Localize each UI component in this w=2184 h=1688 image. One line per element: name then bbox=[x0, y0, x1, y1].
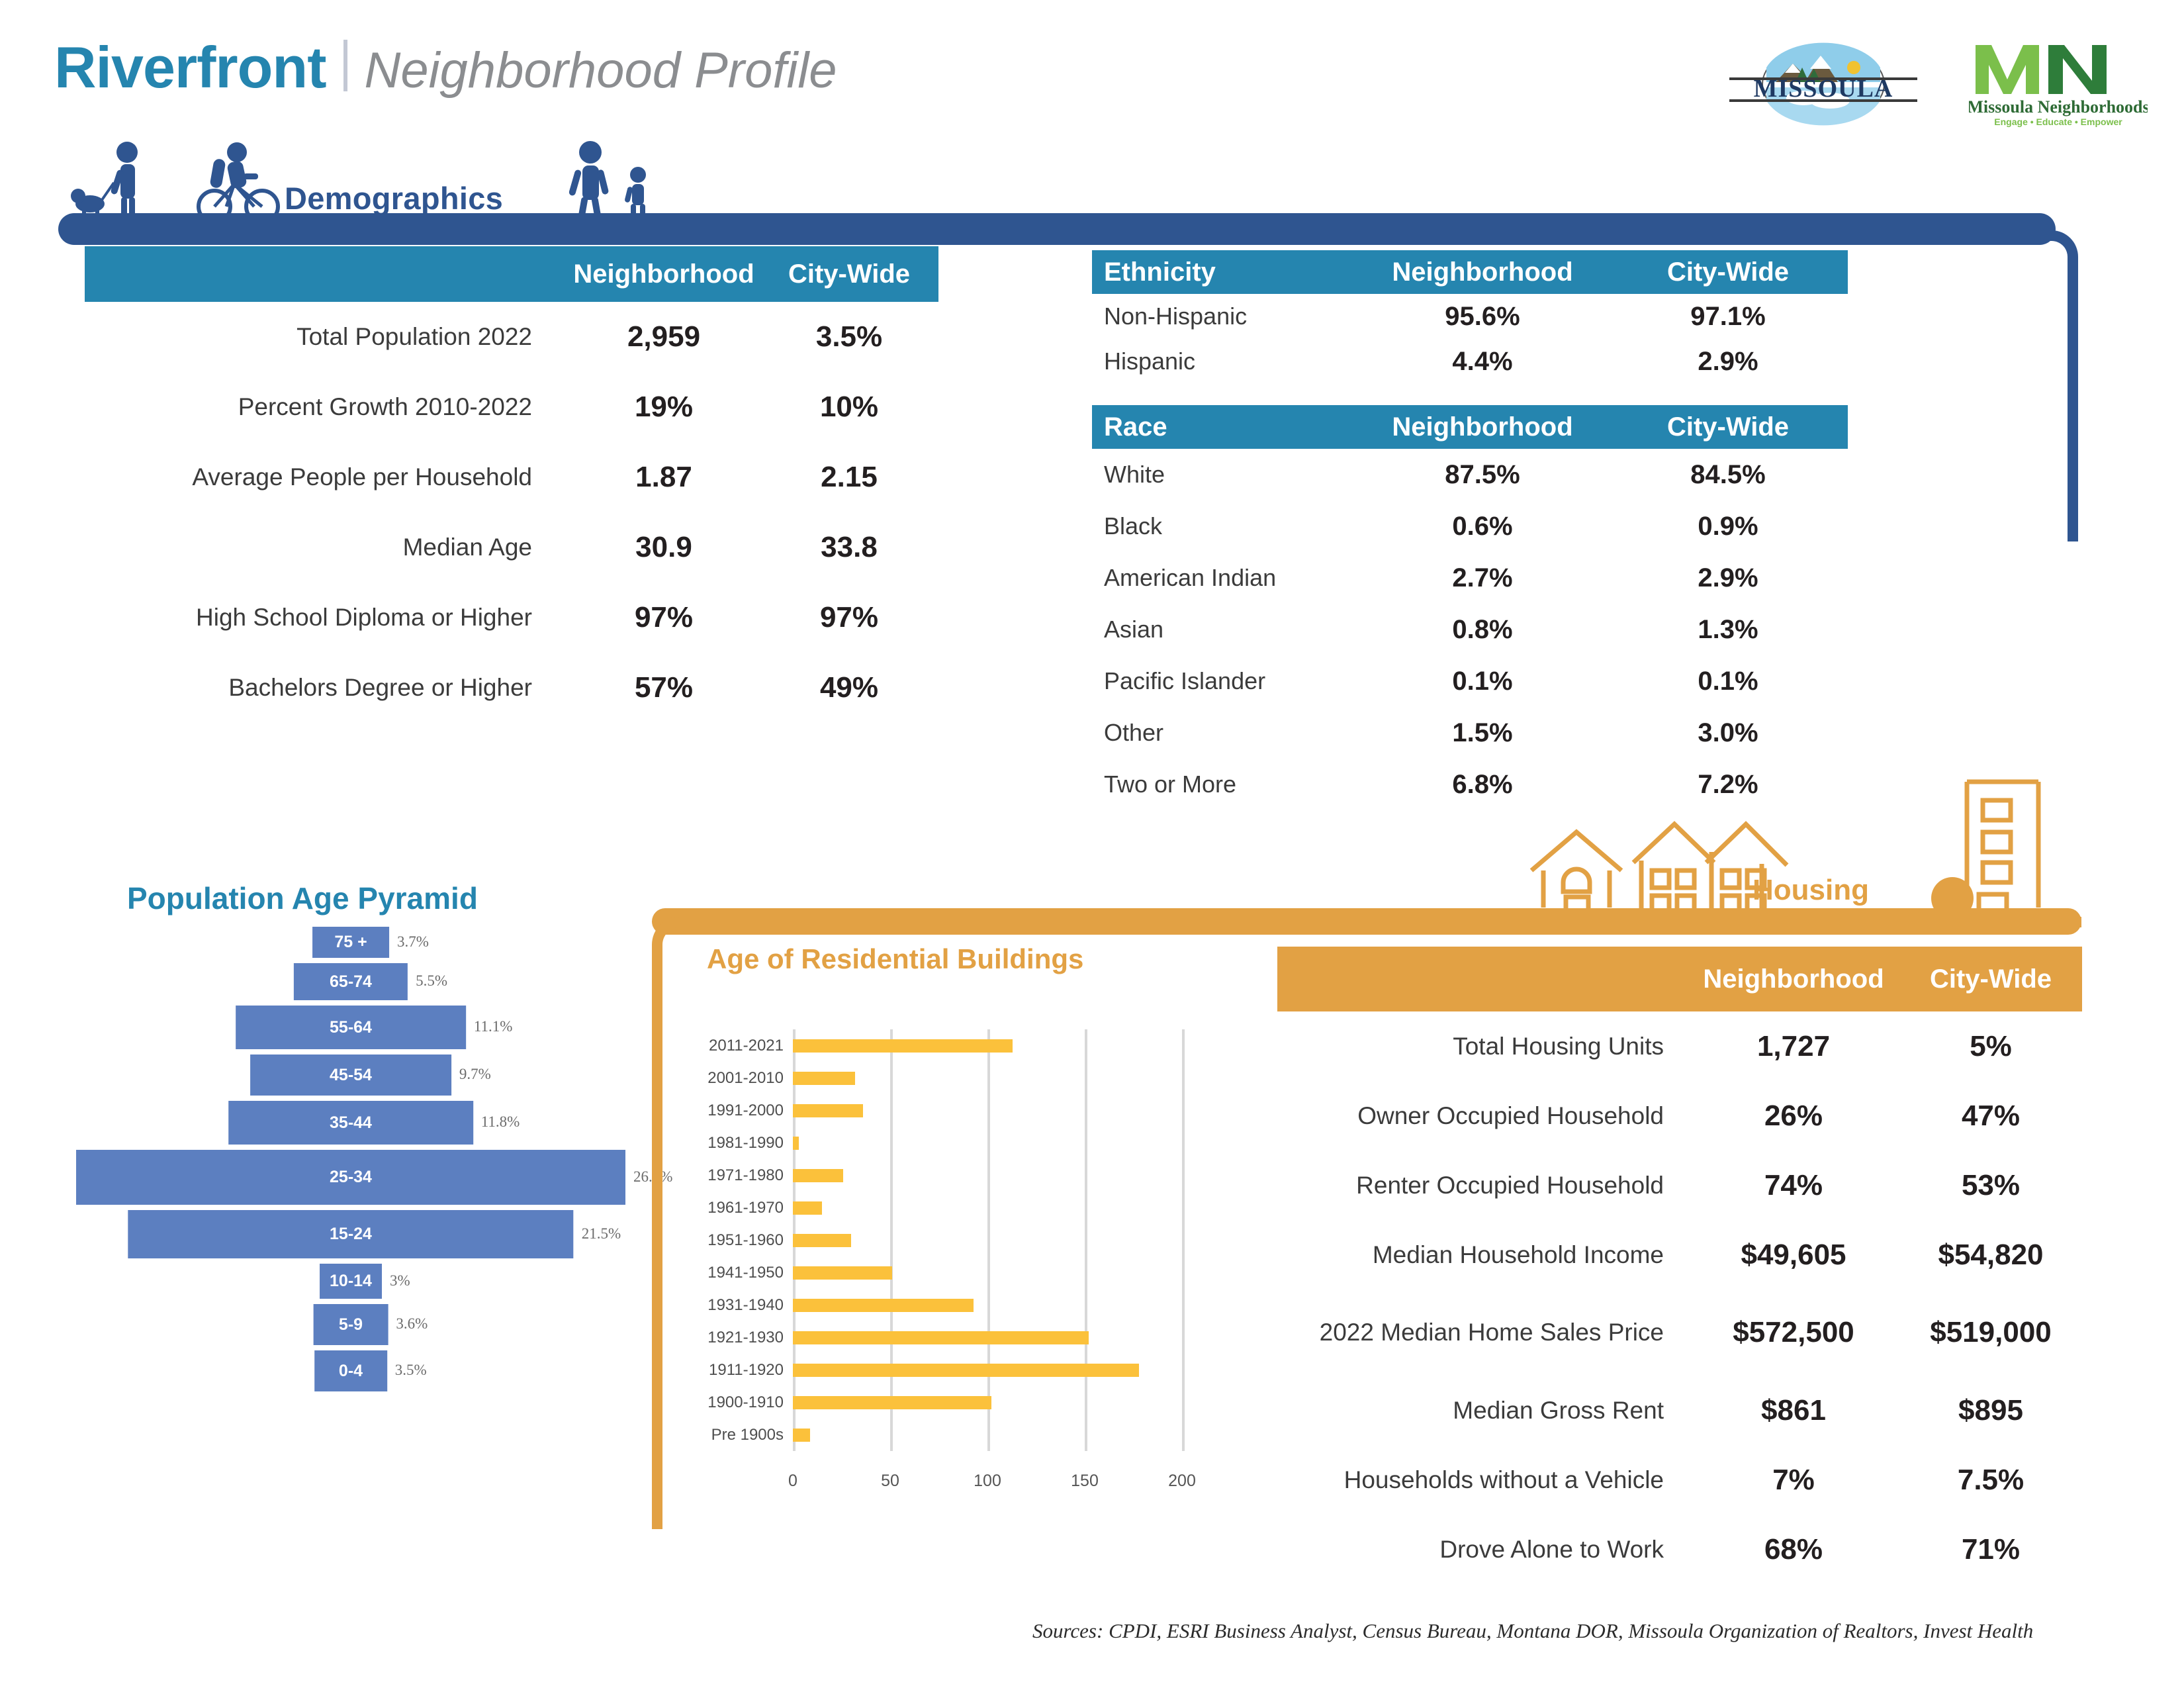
res-bar bbox=[793, 1331, 1089, 1344]
row-citywide-value: 97.1% bbox=[1608, 302, 1848, 332]
row-neighborhood-value: 2,959 bbox=[568, 320, 760, 353]
res-category-label: 1951-1960 bbox=[695, 1224, 793, 1256]
row-neighborhood-value: 97% bbox=[568, 601, 760, 634]
row-neighborhood-value: 57% bbox=[568, 671, 760, 704]
row-neighborhood-value: 19% bbox=[568, 391, 760, 424]
res-category-label: 1911-1920 bbox=[695, 1354, 793, 1386]
row-citywide-value: 0.1% bbox=[1608, 667, 1848, 696]
pyramid-value-label: 3% bbox=[390, 1272, 410, 1289]
row-citywide-value: 10% bbox=[760, 391, 938, 424]
row-label: American Indian bbox=[1092, 564, 1357, 592]
col-header-citywide: City-Wide bbox=[1608, 412, 1848, 442]
neighborhood-name: Riverfront bbox=[54, 38, 326, 97]
table-row: Owner Occupied Household 26% 47% bbox=[1277, 1081, 2082, 1150]
res-bar-row bbox=[793, 1419, 1182, 1451]
row-label: Percent Growth 2010-2022 bbox=[85, 393, 568, 421]
pyramid-value-label: 11.8% bbox=[481, 1113, 520, 1131]
res-category-labels: 2011-20212001-20101991-20001981-19901971… bbox=[695, 1029, 793, 1451]
res-bar bbox=[793, 1137, 799, 1150]
table-row: Households without a Vehicle 7% 7.5% bbox=[1277, 1445, 2082, 1515]
col-header-race: Race bbox=[1092, 412, 1357, 442]
res-bar-row bbox=[793, 1127, 1182, 1159]
missoula-city-logo: MISSOULA bbox=[1724, 41, 1923, 127]
res-bar bbox=[793, 1104, 863, 1117]
res-category-label: 1900-1910 bbox=[695, 1386, 793, 1419]
table-row: Average People per Household 1.87 2.15 bbox=[85, 442, 938, 512]
row-label: Median Gross Rent bbox=[1277, 1397, 1688, 1424]
row-neighborhood-value: 2.7% bbox=[1357, 563, 1608, 593]
sources-footer: Sources: CPDI, ESRI Business Analyst, Ce… bbox=[1032, 1619, 2033, 1643]
res-x-tick-label: 150 bbox=[1071, 1472, 1099, 1491]
row-neighborhood-value: 1.5% bbox=[1357, 718, 1608, 748]
res-bar-row bbox=[793, 1354, 1182, 1386]
pyramid-bar: 35-44 bbox=[228, 1101, 473, 1145]
table-row: Other 1.5% 3.0% bbox=[1092, 707, 1848, 759]
res-bar bbox=[793, 1266, 892, 1280]
pyramid-row: 55-6411.1% bbox=[53, 1006, 649, 1055]
row-label: Renter Occupied Household bbox=[1277, 1172, 1688, 1199]
row-label: Median Household Income bbox=[1277, 1241, 1688, 1268]
res-category-label: 1941-1950 bbox=[695, 1256, 793, 1289]
row-citywide-value: 2.15 bbox=[760, 461, 938, 494]
pyramid-row: 10-143% bbox=[53, 1264, 649, 1304]
neighborhood-profile-page: Riverfront Neighborhood Profile MISSOULA… bbox=[0, 0, 2184, 1688]
table-row: Median Household Income $49,605 $54,820 bbox=[1277, 1220, 2082, 1289]
row-label: Two or More bbox=[1092, 771, 1357, 798]
pyramid-row: 75 +3.7% bbox=[53, 927, 649, 963]
res-bar-row bbox=[793, 1029, 1182, 1062]
row-label: Owner Occupied Household bbox=[1277, 1102, 1688, 1129]
row-label: Asian bbox=[1092, 616, 1357, 643]
row-neighborhood-value: 0.8% bbox=[1357, 615, 1608, 645]
pyramid-row: 5-93.6% bbox=[53, 1304, 649, 1350]
row-neighborhood-value: 95.6% bbox=[1357, 302, 1608, 332]
res-bar bbox=[793, 1234, 851, 1247]
res-x-tick-label: 200 bbox=[1168, 1472, 1196, 1491]
row-label: Median Age bbox=[85, 534, 568, 561]
row-citywide-value: $895 bbox=[1899, 1394, 2082, 1427]
res-bar bbox=[793, 1072, 855, 1085]
row-citywide-value: 3.5% bbox=[760, 320, 938, 353]
table-row: Median Gross Rent $861 $895 bbox=[1277, 1376, 2082, 1445]
row-citywide-value: 0.9% bbox=[1608, 512, 1848, 541]
row-citywide-value: 71% bbox=[1899, 1533, 2082, 1566]
table-row: Renter Occupied Household 74% 53% bbox=[1277, 1150, 2082, 1220]
row-citywide-value: $54,820 bbox=[1899, 1239, 2082, 1272]
res-x-axis: 050100150200 bbox=[793, 1458, 1182, 1498]
row-neighborhood-value: 68% bbox=[1688, 1533, 1899, 1566]
row-label: High School Diploma or Higher bbox=[85, 604, 568, 632]
table-row: Black 0.6% 0.9% bbox=[1092, 500, 1848, 552]
row-neighborhood-value: 7% bbox=[1688, 1464, 1899, 1497]
pyramid-row: 15-2421.5% bbox=[53, 1210, 649, 1264]
row-citywide-value: 84.5% bbox=[1608, 460, 1848, 490]
demographics-table: Neighborhood City-Wide Total Population … bbox=[85, 246, 938, 723]
table-row: Total Housing Units 1,727 5% bbox=[1277, 1011, 2082, 1081]
row-citywide-value: $519,000 bbox=[1899, 1316, 2082, 1349]
row-label: White bbox=[1092, 461, 1357, 489]
res-bar bbox=[793, 1299, 974, 1312]
pyramid-row: 35-4411.8% bbox=[53, 1101, 649, 1150]
row-label: Non-Hispanic bbox=[1092, 303, 1357, 330]
row-citywide-value: 49% bbox=[760, 671, 938, 704]
row-label: 2022 Median Home Sales Price bbox=[1277, 1319, 1688, 1346]
table-row: Asian 0.8% 1.3% bbox=[1092, 604, 1848, 655]
row-label: Total Population 2022 bbox=[85, 323, 568, 351]
res-bar-row bbox=[793, 1062, 1182, 1094]
row-neighborhood-value: 1,727 bbox=[1688, 1030, 1899, 1063]
svg-text:Engage • Educate • Empower: Engage • Educate • Empower bbox=[1994, 117, 2122, 127]
row-neighborhood-value: 87.5% bbox=[1357, 460, 1608, 490]
demographics-section-label: Demographics bbox=[285, 180, 503, 216]
pyramid-bar: 25-34 bbox=[76, 1150, 625, 1205]
row-label: Other bbox=[1092, 719, 1357, 747]
res-category-label: 2011-2021 bbox=[695, 1029, 793, 1062]
pyramid-row: 45-549.7% bbox=[53, 1055, 649, 1101]
res-bar-row bbox=[793, 1094, 1182, 1127]
pyramid-value-label: 21.5% bbox=[582, 1225, 621, 1243]
table-row: Percent Growth 2010-2022 19% 10% bbox=[85, 372, 938, 442]
svg-text:MISSOULA: MISSOULA bbox=[1754, 75, 1893, 103]
res-bar bbox=[793, 1396, 991, 1409]
demographics-table-header: Neighborhood City-Wide bbox=[85, 246, 938, 302]
res-plot-area bbox=[793, 1029, 1182, 1451]
col-header-neighborhood: Neighborhood bbox=[568, 259, 760, 289]
row-label: Black bbox=[1092, 512, 1357, 540]
col-header-citywide: City-Wide bbox=[760, 259, 938, 289]
pyramid-bar: 0-4 bbox=[314, 1350, 387, 1391]
row-citywide-value: 2.9% bbox=[1608, 347, 1848, 377]
row-citywide-value: 1.3% bbox=[1608, 615, 1848, 645]
res-category-label: 1971-1980 bbox=[695, 1159, 793, 1192]
row-neighborhood-value: $49,605 bbox=[1688, 1239, 1899, 1272]
pyramid-value-label: 3.6% bbox=[396, 1315, 428, 1333]
row-neighborhood-value: 0.1% bbox=[1357, 667, 1608, 696]
row-neighborhood-value: $572,500 bbox=[1688, 1316, 1899, 1349]
res-bar-row bbox=[793, 1159, 1182, 1192]
table-row: White 87.5% 84.5% bbox=[1092, 449, 1848, 500]
row-citywide-value: 47% bbox=[1899, 1100, 2082, 1133]
pyramid-bar: 5-9 bbox=[314, 1304, 388, 1345]
population-age-pyramid-title: Population Age Pyramid bbox=[127, 880, 478, 916]
res-bar-row bbox=[793, 1289, 1182, 1321]
row-citywide-value: 53% bbox=[1899, 1169, 2082, 1202]
row-label: Total Housing Units bbox=[1277, 1033, 1688, 1060]
pyramid-value-label: 5.5% bbox=[416, 972, 447, 990]
age-of-residential-buildings-title: Age of Residential Buildings bbox=[707, 943, 1083, 975]
row-label: Households without a Vehicle bbox=[1277, 1466, 1688, 1493]
col-header-neighborhood: Neighborhood bbox=[1357, 258, 1608, 287]
col-header-citywide: City-Wide bbox=[1608, 258, 1848, 287]
res-bar-row bbox=[793, 1192, 1182, 1224]
res-bar bbox=[793, 1201, 822, 1215]
col-header-neighborhood: Neighborhood bbox=[1357, 412, 1608, 442]
pyramid-row: 65-745.5% bbox=[53, 963, 649, 1006]
pyramid-bar: 75 + bbox=[312, 927, 389, 958]
res-category-label: 1921-1930 bbox=[695, 1321, 793, 1354]
table-row: 2022 Median Home Sales Price $572,500 $5… bbox=[1277, 1289, 2082, 1376]
res-bar bbox=[793, 1169, 843, 1182]
col-header-ethnicity: Ethnicity bbox=[1092, 258, 1357, 287]
row-label: Hispanic bbox=[1092, 348, 1357, 375]
pyramid-bar: 15-24 bbox=[128, 1210, 573, 1258]
row-citywide-value: 2.9% bbox=[1608, 563, 1848, 593]
missoula-neighborhoods-logo: Missoula Neighborhoods Engage • Educate … bbox=[1969, 40, 2148, 129]
ethnicity-table: Ethnicity Neighborhood City-Wide Non-His… bbox=[1092, 250, 1848, 384]
res-x-tick-label: 100 bbox=[974, 1472, 1001, 1491]
res-category-label: 1991-2000 bbox=[695, 1094, 793, 1127]
row-citywide-value: 5% bbox=[1899, 1030, 2082, 1063]
pyramid-value-label: 11.1% bbox=[474, 1018, 513, 1035]
res-bar-row bbox=[793, 1256, 1182, 1289]
res-bar-row bbox=[793, 1321, 1182, 1354]
res-bar bbox=[793, 1429, 810, 1442]
pyramid-bar: 55-64 bbox=[236, 1006, 466, 1049]
res-category-label: 1961-1970 bbox=[695, 1192, 793, 1224]
row-label: Pacific Islander bbox=[1092, 667, 1357, 695]
col-header-citywide: City-Wide bbox=[1899, 964, 2082, 994]
svg-text:Missoula Neighborhoods: Missoula Neighborhoods bbox=[1969, 97, 2148, 117]
housing-section-label: Housing bbox=[1752, 874, 1869, 907]
pyramid-row: 0-43.5% bbox=[53, 1350, 649, 1397]
table-row: Total Population 2022 2,959 3.5% bbox=[85, 302, 938, 372]
race-table-header: Race Neighborhood City-Wide bbox=[1092, 405, 1848, 449]
row-neighborhood-value: 0.6% bbox=[1357, 512, 1608, 541]
res-gridline bbox=[1182, 1029, 1185, 1451]
row-label: Average People per Household bbox=[85, 463, 568, 491]
pyramid-bar: 65-74 bbox=[294, 963, 408, 1000]
population-age-pyramid-chart: 75 +3.7%65-745.5%55-6411.1%45-549.7%35-4… bbox=[53, 927, 649, 1509]
row-neighborhood-value: 30.9 bbox=[568, 531, 760, 564]
row-neighborhood-value: 74% bbox=[1688, 1169, 1899, 1202]
pyramid-value-label: 3.7% bbox=[397, 933, 429, 951]
page-subtitle: Neighborhood Profile bbox=[365, 46, 837, 96]
title-divider bbox=[343, 40, 347, 91]
age-of-residential-buildings-chart: 2011-20212001-20101991-20001981-19901971… bbox=[695, 1029, 1224, 1546]
res-category-label: 1931-1940 bbox=[695, 1289, 793, 1321]
row-neighborhood-value: $861 bbox=[1688, 1394, 1899, 1427]
row-label: Drove Alone to Work bbox=[1277, 1536, 1688, 1563]
pyramid-row: 25-3426.5% bbox=[53, 1150, 649, 1210]
table-row: Drove Alone to Work 68% 71% bbox=[1277, 1515, 2082, 1584]
row-citywide-value: 3.0% bbox=[1608, 718, 1848, 748]
res-category-label: 2001-2010 bbox=[695, 1062, 793, 1094]
row-neighborhood-value: 4.4% bbox=[1357, 347, 1608, 377]
row-neighborhood-value: 26% bbox=[1688, 1100, 1899, 1133]
table-row: Pacific Islander 0.1% 0.1% bbox=[1092, 655, 1848, 707]
page-title: Riverfront Neighborhood Profile bbox=[54, 36, 837, 97]
res-bar-row bbox=[793, 1224, 1182, 1256]
pyramid-bar: 45-54 bbox=[250, 1055, 451, 1096]
pyramid-value-label: 9.7% bbox=[459, 1066, 491, 1083]
res-category-label: 1981-1990 bbox=[695, 1127, 793, 1159]
table-row: Hispanic 4.4% 2.9% bbox=[1092, 339, 1848, 384]
col-header-neighborhood: Neighborhood bbox=[1688, 964, 1899, 994]
row-citywide-value: 97% bbox=[760, 601, 938, 634]
res-category-label: Pre 1900s bbox=[695, 1419, 793, 1451]
pyramid-bar: 10-14 bbox=[320, 1264, 382, 1299]
row-citywide-value: 7.5% bbox=[1899, 1464, 2082, 1497]
row-label: Bachelors Degree or Higher bbox=[85, 674, 568, 702]
row-neighborhood-value: 1.87 bbox=[568, 461, 760, 494]
pyramid-value-label: 3.5% bbox=[395, 1362, 427, 1379]
housing-table-header: Neighborhood City-Wide bbox=[1277, 947, 2082, 1011]
table-row: Median Age 30.9 33.8 bbox=[85, 512, 938, 583]
housing-table: Neighborhood City-Wide Total Housing Uni… bbox=[1277, 947, 2082, 1584]
table-row: American Indian 2.7% 2.9% bbox=[1092, 552, 1848, 604]
res-x-tick-label: 0 bbox=[788, 1472, 797, 1491]
res-bar bbox=[793, 1039, 1013, 1053]
ethnicity-table-header: Ethnicity Neighborhood City-Wide bbox=[1092, 250, 1848, 294]
table-row: Bachelors Degree or Higher 57% 49% bbox=[85, 653, 938, 723]
res-bar bbox=[793, 1364, 1139, 1377]
table-row: Non-Hispanic 95.6% 97.1% bbox=[1092, 294, 1848, 339]
table-row: High School Diploma or Higher 97% 97% bbox=[85, 583, 938, 653]
res-x-tick-label: 50 bbox=[881, 1472, 899, 1491]
res-bar-row bbox=[793, 1386, 1182, 1419]
row-citywide-value: 33.8 bbox=[760, 531, 938, 564]
race-table: Race Neighborhood City-Wide White 87.5% … bbox=[1092, 405, 1848, 810]
